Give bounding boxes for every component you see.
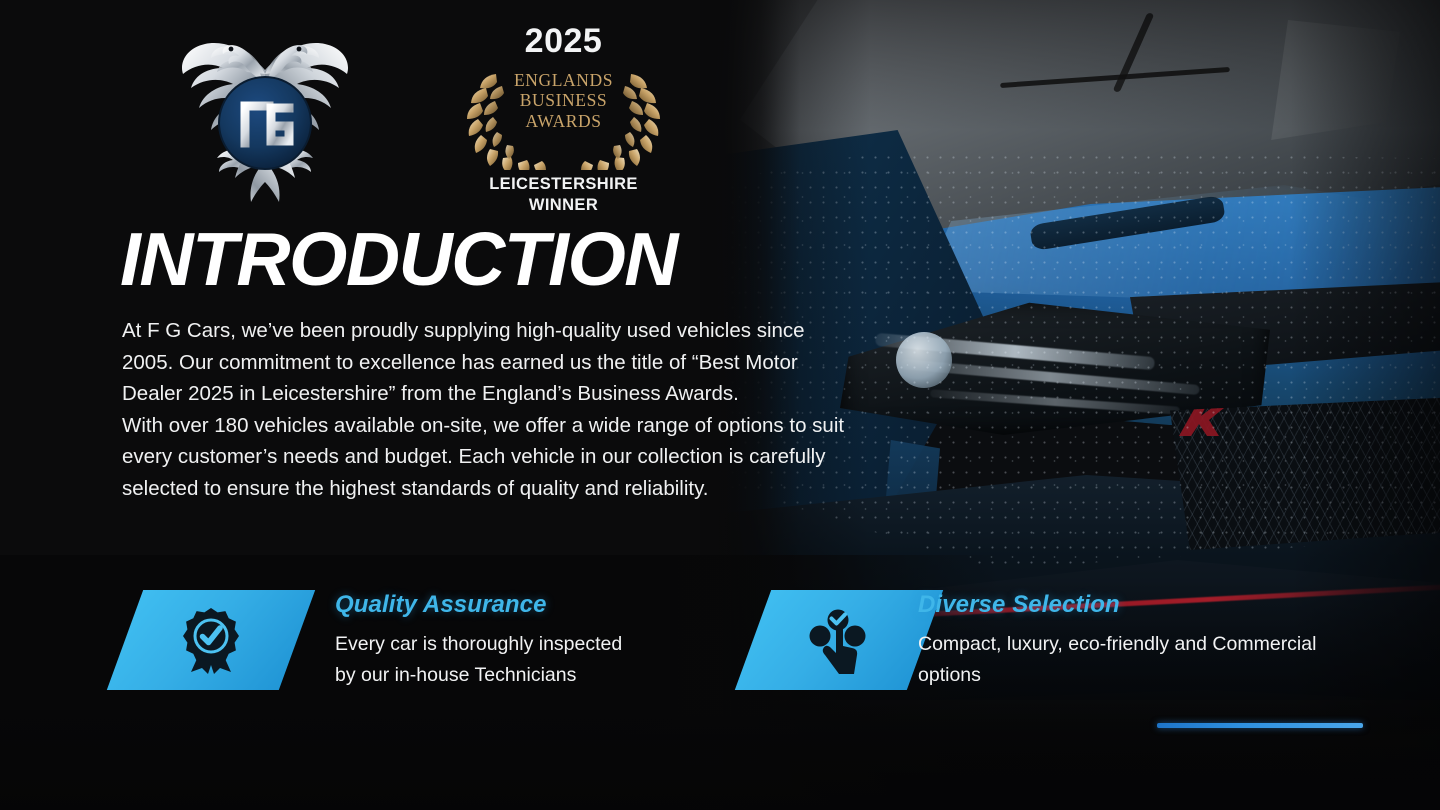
award-wreath: ENGLANDS BUSINESS AWARDS xyxy=(466,62,661,170)
bottom-fade-band xyxy=(0,700,1440,810)
intro-paragraph-1: At F G Cars, we’ve been proudly supplyin… xyxy=(122,315,847,410)
feature-heading: Quality Assurance xyxy=(335,592,635,618)
intro-body: At F G Cars, we’ve been proudly supplyin… xyxy=(122,315,847,504)
feature-icon-tile xyxy=(107,590,315,690)
award-line-2: BUSINESS xyxy=(466,90,661,110)
award-result: WINNER xyxy=(466,195,661,216)
slide-introduction: 2025 xyxy=(0,0,1440,810)
award-organisation: ENGLANDS BUSINESS AWARDS xyxy=(466,70,661,131)
feature-quality-assurance: Quality Assurance Every car is thoroughl… xyxy=(125,590,297,690)
feature-diverse-selection: Diverse Selection Compact, luxury, eco-f… xyxy=(753,590,925,690)
feature-description: Every car is thoroughly inspected by our… xyxy=(335,629,635,691)
verified-badge-icon xyxy=(180,606,242,674)
award-badge: 2025 xyxy=(466,20,661,225)
award-line-3: AWARDS xyxy=(466,111,661,131)
award-region-result: LEICESTERSHIRE WINNER xyxy=(466,174,661,216)
feature-heading: Diverse Selection xyxy=(918,592,1318,618)
feature-text-block: Quality Assurance Every car is thoroughl… xyxy=(335,592,635,691)
blue-accent-line xyxy=(1157,723,1363,728)
page-title: INTRODUCTION xyxy=(120,222,677,297)
award-line-1: ENGLANDS xyxy=(466,70,661,90)
select-options-hand-icon xyxy=(807,606,871,674)
award-region: LEICESTERSHIRE xyxy=(466,174,661,195)
award-year: 2025 xyxy=(466,24,661,58)
intro-paragraph-2: With over 180 vehicles available on-site… xyxy=(122,410,847,505)
feature-text-block: Diverse Selection Compact, luxury, eco-f… xyxy=(918,592,1318,691)
feature-icon-tile xyxy=(735,590,943,690)
feature-description: Compact, luxury, eco-friendly and Commer… xyxy=(918,629,1318,691)
fg-cars-eagle-logo xyxy=(165,18,365,223)
